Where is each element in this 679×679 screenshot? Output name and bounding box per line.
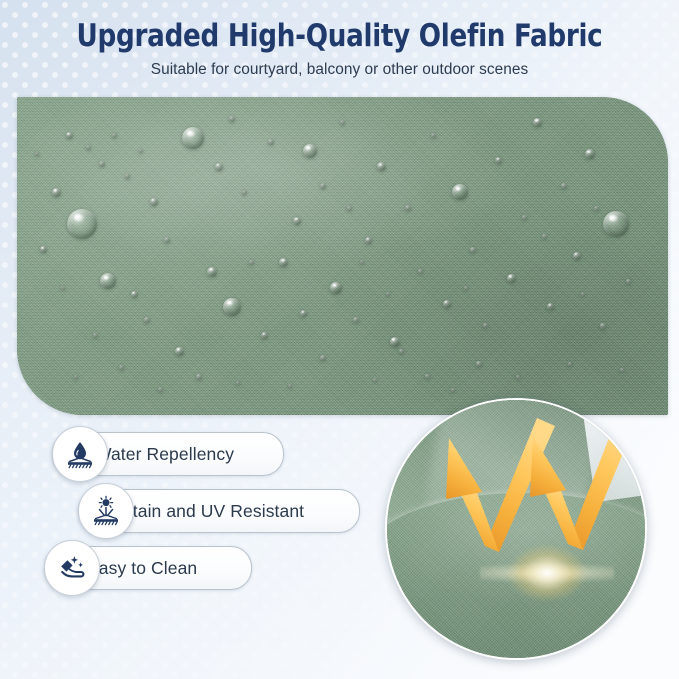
water-droplet (600, 323, 606, 329)
water-droplet (131, 291, 138, 298)
water-droplet (139, 149, 143, 153)
water-droplet (464, 286, 468, 290)
water-droplet (573, 252, 581, 260)
water-droplet (40, 246, 47, 253)
page-subtitle: Suitable for courtyard, balcony or other… (0, 56, 679, 79)
water-droplet-on-fabric-icon (52, 426, 108, 482)
water-droplet (303, 144, 317, 158)
water-droplet (443, 300, 451, 308)
water-droplet (365, 237, 372, 244)
water-droplet (300, 310, 307, 317)
water-droplet (451, 388, 455, 392)
water-droplet (249, 260, 254, 265)
water-droplet (66, 132, 73, 139)
feature-label: Water Repellency (95, 444, 234, 465)
water-droplet (182, 127, 204, 149)
feature-badge-stain-uv-resistant[interactable]: Stain and UV Resistant (0, 489, 360, 533)
water-droplet (61, 286, 65, 290)
water-droplet (347, 206, 352, 211)
water-droplet (268, 139, 274, 145)
water-droplet (158, 387, 163, 392)
water-droplet (35, 152, 39, 156)
hand-sparkle-cleaning-icon (44, 540, 100, 596)
uv-bounce-arrows-icon (387, 400, 645, 658)
water-droplet (603, 211, 629, 237)
water-droplet (215, 163, 223, 171)
water-droplet (293, 217, 301, 225)
sun-uv-on-fabric-icon (78, 483, 134, 539)
fabric-hero-image (17, 97, 668, 415)
water-droplet (119, 365, 124, 370)
water-droplet (452, 184, 468, 200)
water-droplet (261, 332, 268, 339)
water-droplet (164, 237, 170, 243)
water-droplet (144, 317, 150, 323)
water-droplet (594, 206, 599, 211)
water-droplet (425, 374, 430, 379)
water-droplet (399, 349, 404, 354)
feature-badge-easy-to-clean[interactable]: Easy to Clean (0, 546, 360, 590)
uv-reflection-inset (385, 398, 647, 660)
feature-label: Easy to Clean (87, 558, 197, 579)
water-droplet (353, 317, 359, 323)
water-droplet (99, 161, 105, 167)
water-droplet (150, 198, 158, 206)
feature-label: Stain and UV Resistant (121, 501, 304, 522)
water-droplet (470, 247, 476, 253)
header: Upgraded High-Quality Olefin Fabric Suit… (0, 0, 679, 79)
water-droplet (330, 282, 342, 294)
feature-badge-list: Water Repellency (0, 432, 360, 603)
water-droplet (74, 375, 78, 379)
fabric-sheen (17, 97, 668, 415)
water-droplet (340, 120, 345, 125)
water-droplet (112, 133, 117, 138)
water-droplet (223, 298, 241, 316)
water-droplet (561, 183, 567, 189)
feature-badge-water-repellency[interactable]: Water Repellency (0, 432, 360, 476)
water-droplet (431, 133, 436, 138)
water-droplet (390, 337, 400, 347)
water-droplet (405, 205, 411, 211)
water-droplet (93, 333, 98, 338)
water-droplet (320, 355, 326, 361)
page-title: Upgraded High-Quality Olefin Fabric (20, 0, 658, 56)
infographic-canvas: Upgraded High-Quality Olefin Fabric Suit… (0, 0, 679, 679)
water-droplet (320, 183, 326, 189)
water-droplet (507, 274, 516, 283)
water-droplet (52, 188, 61, 197)
